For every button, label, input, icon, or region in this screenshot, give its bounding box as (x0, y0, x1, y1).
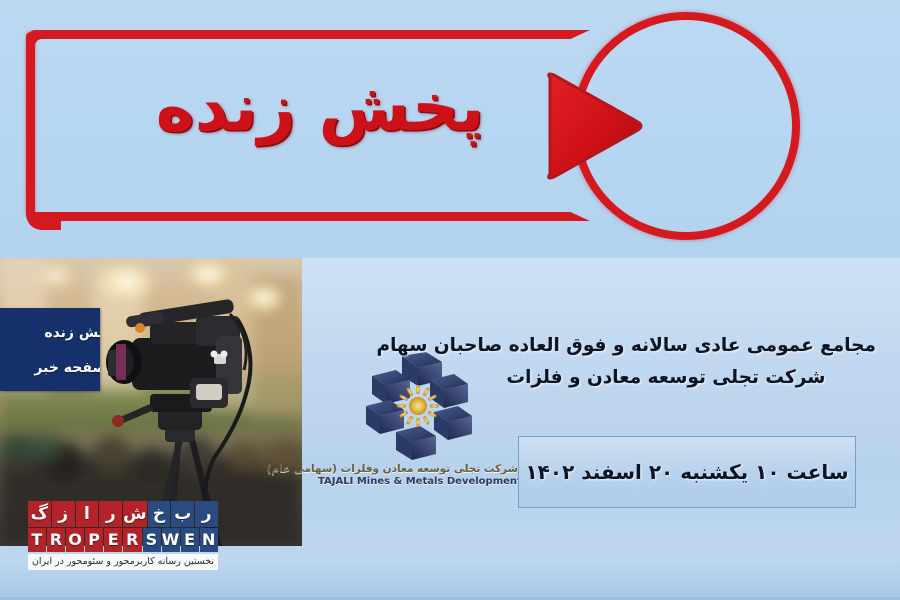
watermark-tile: ر (99, 501, 122, 527)
watermark-english-row: NEWSREPORT (28, 528, 218, 552)
watermark-tile: E (104, 528, 122, 552)
watermark-tile: گ (28, 501, 51, 527)
overlay-line-news-page: صفحه خبر (34, 360, 100, 376)
headline-line-1: مجامع عمومی عادی سالانه و فوق العاده صاح… (456, 330, 876, 362)
frame-corner-top-left (26, 30, 61, 65)
event-date-box: ساعت ۱۰ یکشنبه ۲۰ اسفند ۱۴۰۲ (518, 436, 856, 508)
frame-top-bar (30, 30, 590, 39)
watermark-tile: ب (171, 501, 194, 527)
poster-body: پخش زنده صفحه خبر ربخشرازگ NEWSREPORT نخ… (0, 258, 900, 600)
frame-bottom-bar (30, 212, 590, 221)
live-banner: پخش زنده (0, 0, 900, 258)
overlay-line-live: پخش زنده (44, 325, 100, 341)
watermark-tagline: نخستین رسانه کاربرمحور و سئومحور در ایرا… (28, 554, 218, 570)
watermark-tile: R (123, 528, 141, 552)
headline-line-2: شرکت تجلی توسعه معادن و فلزات (456, 362, 876, 394)
watermark-tile: P (85, 528, 103, 552)
news-report-watermark: ربخشرازگ NEWSREPORT نخستین رسانه کاربرمح… (28, 501, 218, 570)
watermark-tile: ش (123, 501, 146, 527)
poster-stage: پخش زنده (0, 0, 900, 600)
watermark-tile: O (66, 528, 84, 552)
watermark-tile: S (143, 528, 161, 552)
watermark-tile: ر (195, 501, 218, 527)
watermark-tile: خ (148, 501, 171, 527)
logo-caption-fa: شرکت تجلی توسعه معادن وفلزات (سهامی عام) (318, 463, 518, 475)
watermark-tile: E (181, 528, 199, 552)
watermark-tile: N (200, 528, 218, 552)
watermark-tile: ا (76, 501, 99, 527)
watermark-tile: R (47, 528, 65, 552)
frame-corner-bottom-left (26, 195, 61, 230)
event-date-text: ساعت ۱۰ یکشنبه ۲۰ اسفند ۱۴۰۲ (525, 460, 848, 484)
logo-caption-en: TAJALI Mines & Metals Development Co. (318, 476, 518, 487)
live-broadcast-title: پخش زنده (120, 72, 520, 145)
live-overlay-panel: پخش زنده صفحه خبر (0, 308, 100, 391)
play-button[interactable] (572, 12, 800, 240)
watermark-tile: T (28, 528, 46, 552)
event-headline: مجامع عمومی عادی سالانه و فوق العاده صاح… (456, 330, 876, 395)
watermark-tile: W (162, 528, 180, 552)
watermark-tile: ز (52, 501, 75, 527)
watermark-persian-row: ربخشرازگ (28, 501, 218, 527)
